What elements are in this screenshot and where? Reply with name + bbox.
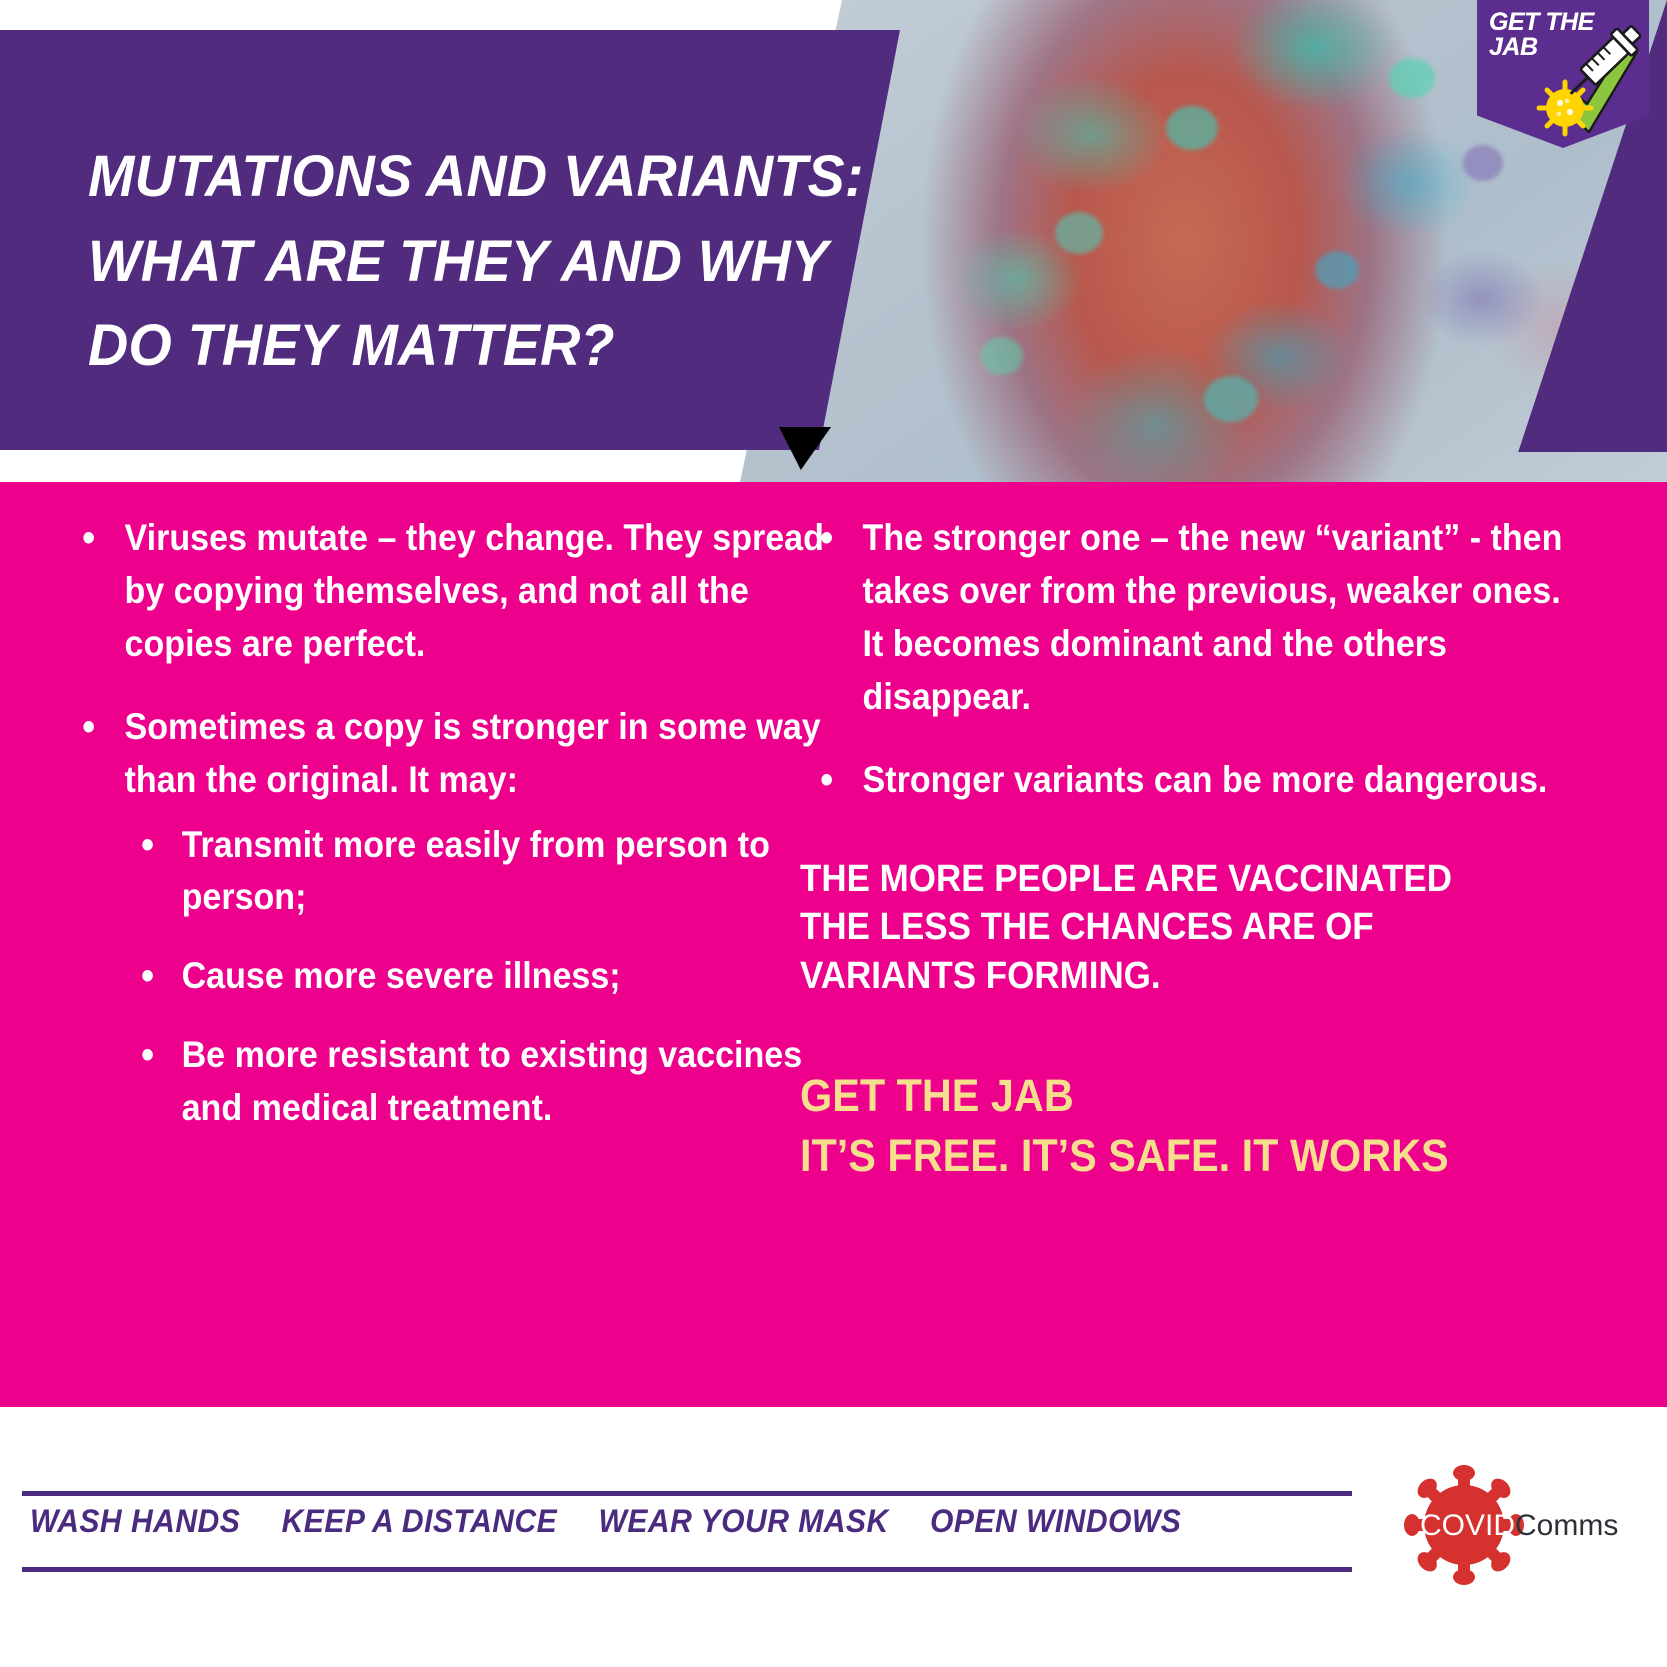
list-item: Transmit more easily from person to pers… [125,819,860,925]
key-statement-line-3: VARIANTS FORMING. [800,952,1525,1001]
covidcomms-wordmark: COVIDComms [1420,1509,1618,1543]
content-panel: Viruses mutate – they change. They sprea… [0,482,1667,1407]
cta-line-1: GET THE JAB [800,1066,1525,1125]
virus-spike [981,337,1023,375]
page-title-line-2: WHAT ARE THEY AND WHY [88,220,837,305]
key-statement-line-1: THE MORE PEOPLE ARE VACCINATED [800,855,1525,904]
footer-measure-keep-a-distance: KEEP A DISTANCE [282,1503,558,1540]
virus-spike [1315,251,1359,289]
covidcomms-comms-text: Comms [1515,1509,1618,1542]
left-sub-bullet-list: Transmit more easily from person to pers… [125,819,860,1136]
key-statement: THE MORE PEOPLE ARE VACCINATED THE LESS … [800,855,1525,1001]
footer-measure-wash-hands: WASH HANDS [30,1503,240,1540]
list-item: The stronger one – the new “variant” - t… [800,512,1588,724]
left-column: Viruses mutate – they change. They sprea… [62,512,802,1165]
cta-line-2: IT’S FREE. IT’S SAFE. IT WORKS [800,1126,1525,1185]
footer-rule-bottom [22,1567,1352,1572]
virus-spike [1204,376,1258,422]
footer: WASH HANDS KEEP A DISTANCE WEAR YOUR MAS… [0,1407,1667,1667]
page-title-line-1: MUTATIONS AND VARIANTS: [88,135,837,220]
virus-spike [1463,145,1503,181]
key-statement-line-2: THE LESS THE CHANCES ARE OF [800,903,1525,952]
list-item: Sometimes a copy is stronger in some way… [62,701,860,1135]
virus-spike [1389,58,1435,98]
page-title: MUTATIONS AND VARIANTS: WHAT ARE THEY AN… [88,135,837,389]
footer-measures: WASH HANDS KEEP A DISTANCE WEAR YOUR MAS… [30,1503,1181,1540]
virus-icon [1539,82,1591,134]
covidcomms-covid-text: COVID [1420,1509,1515,1542]
list-item: Stronger variants can be more dangerous. [800,754,1588,807]
list-item-label: Sometimes a copy is stronger in some way… [125,706,821,800]
footer-rule-top [22,1491,1352,1496]
list-item: Be more resistant to existing vaccines a… [125,1029,860,1135]
virus-spike [1166,106,1218,150]
left-bullet-list: Viruses mutate – they change. They sprea… [62,512,802,1135]
call-to-action: GET THE JAB IT’S FREE. IT’S SAFE. IT WOR… [800,1066,1525,1185]
footer-measure-wear-your-mask: WEAR YOUR MASK [599,1503,889,1540]
list-item: Viruses mutate – they change. They sprea… [62,512,860,671]
virus-spike [1055,212,1103,254]
covidcomms-logo: COVIDComms [1398,1461,1648,1591]
list-item: Cause more severe illness; [125,950,860,1003]
right-bullet-list: The stronger one – the new “variant” - t… [800,512,1530,807]
footer-measure-open-windows: OPEN WINDOWS [930,1503,1181,1540]
header-banner: MUTATIONS AND VARIANTS: WHAT ARE THEY AN… [0,0,1667,482]
page-title-line-3: DO THEY MATTER? [88,304,837,389]
right-column: The stronger one – the new “variant” - t… [800,512,1530,1185]
